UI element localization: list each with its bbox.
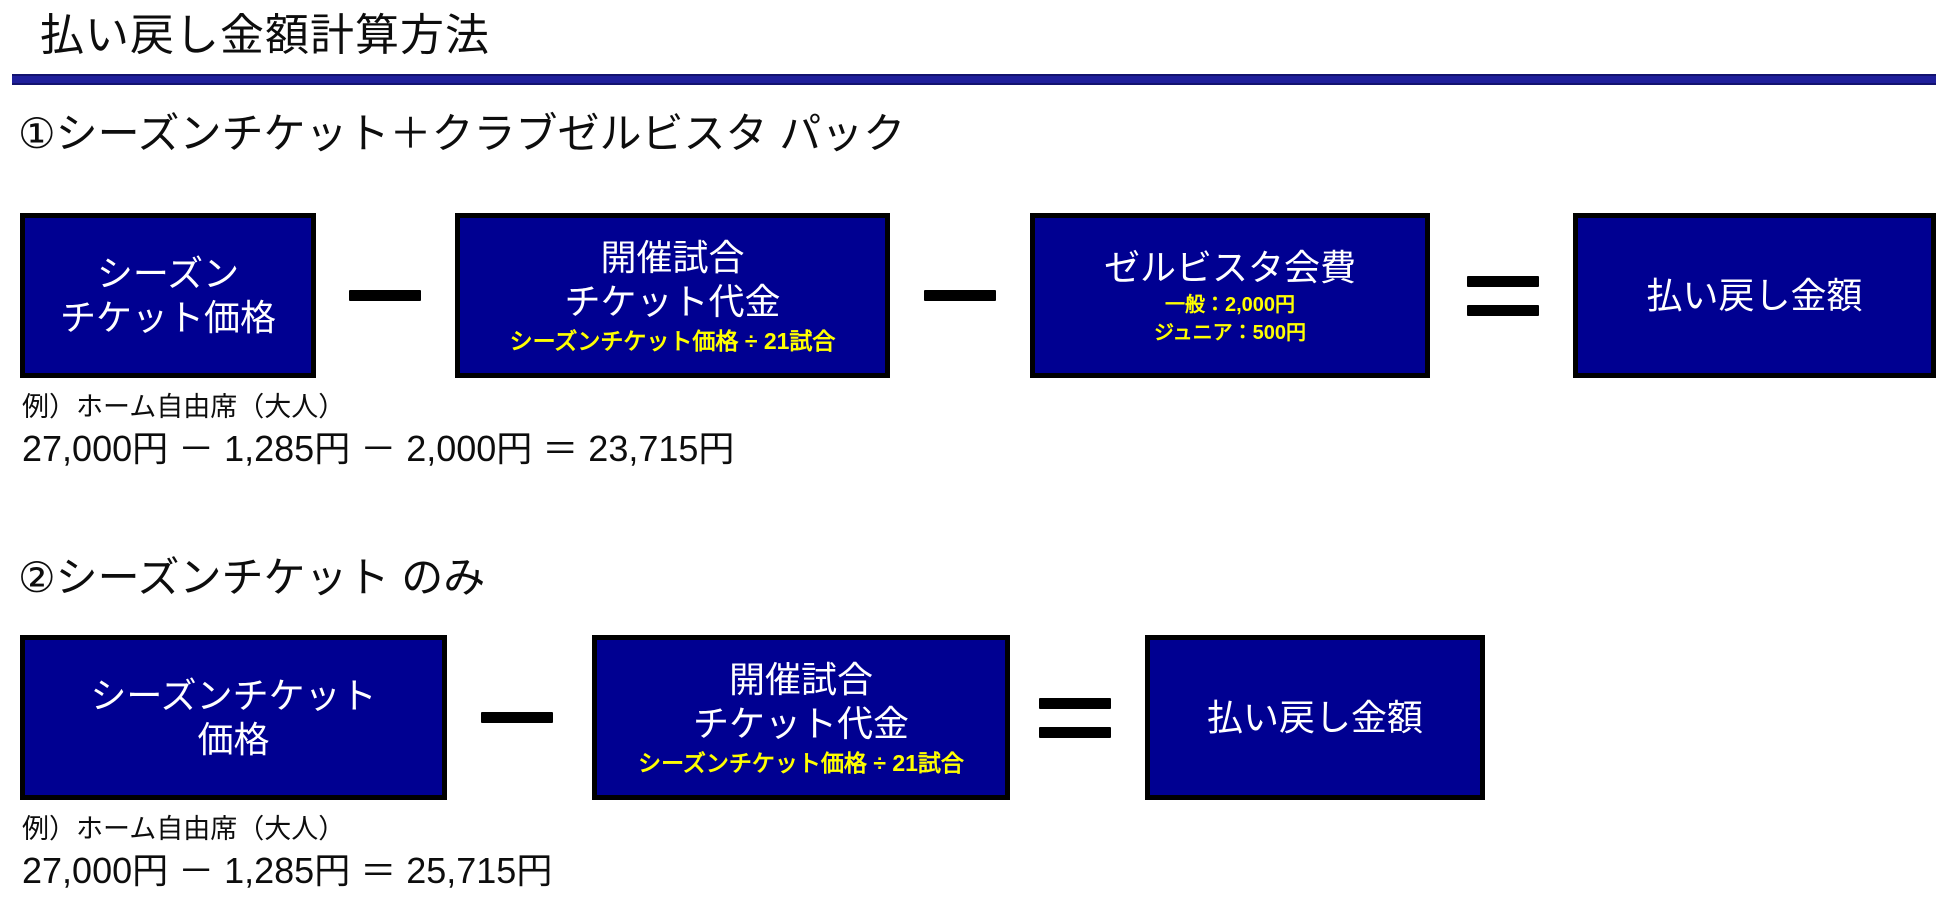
box-line: チケット代金 — [693, 702, 909, 746]
equals-bar — [1039, 698, 1111, 709]
minus-operator-icon — [462, 635, 572, 800]
box-match-ticket-cost: 開催試合 チケット代金 シーズンチケット価格 ÷ 21試合 — [455, 213, 890, 378]
box-line: 開催試合 — [729, 658, 873, 702]
box-note: 一般：2,000円 — [1165, 293, 1295, 318]
box-line: シーズンチケット — [90, 674, 376, 718]
section-heading-1: ①シーズンチケット＋クラブゼルビスタ パック — [18, 108, 905, 160]
box-refund-amount: 払い戻し金額 — [1145, 635, 1485, 800]
title-divider — [12, 74, 1936, 85]
box-season-ticket-price: シーズンチケット 価格 — [20, 635, 447, 800]
example-calculation: 27,000円 － 1,285円 － 2,000円 ＝ 23,715円 — [22, 426, 734, 472]
example-calculation: 27,000円 － 1,285円 ＝ 25,715円 — [22, 848, 552, 894]
box-note: シーズンチケット価格 ÷ 21試合 — [638, 749, 964, 777]
box-note: シーズンチケット価格 ÷ 21試合 — [510, 327, 836, 355]
minus-operator-icon — [905, 213, 1015, 378]
example-block-pack: 例）ホーム自由席（大人） 27,000円 － 1,285円 － 2,000円 ＝… — [22, 390, 734, 472]
example-label: 例）ホーム自由席（大人） — [22, 812, 552, 846]
box-note: ジュニア：500円 — [1154, 321, 1306, 346]
box-season-ticket-price: シーズン チケット価格 — [20, 213, 316, 378]
example-block-season-only: 例）ホーム自由席（大人） 27,000円 － 1,285円 ＝ 25,715円 — [22, 812, 552, 894]
equals-operator-icon — [1448, 213, 1558, 378]
box-line: 払い戻し金額 — [1646, 274, 1862, 318]
box-line: 払い戻し金額 — [1207, 696, 1423, 740]
box-match-ticket-cost: 開催試合 チケット代金 シーズンチケット価格 ÷ 21試合 — [592, 635, 1010, 800]
minus-bar — [481, 712, 553, 723]
box-refund-amount: 払い戻し金額 — [1573, 213, 1936, 378]
example-label: 例）ホーム自由席（大人） — [22, 390, 734, 424]
equals-bar — [1039, 727, 1111, 738]
box-line: ゼルビスタ会費 — [1104, 246, 1356, 290]
box-line: シーズン — [97, 252, 239, 296]
equals-operator-icon — [1020, 635, 1130, 800]
equals-bar — [1467, 276, 1539, 287]
box-line: 開催試合 — [600, 236, 744, 280]
minus-bar — [924, 290, 996, 301]
box-line: チケット価格 — [60, 296, 276, 340]
equals-bar — [1467, 305, 1539, 316]
box-zelvista-membership-fee: ゼルビスタ会費 一般：2,000円 ジュニア：500円 — [1030, 213, 1430, 378]
box-line: チケット代金 — [564, 280, 780, 324]
box-line: 価格 — [197, 718, 269, 762]
section-heading-2: ②シーズンチケット のみ — [18, 552, 485, 604]
page-title: 払い戻し金額計算方法 — [40, 6, 490, 66]
minus-bar — [349, 290, 421, 301]
minus-operator-icon — [330, 213, 440, 378]
